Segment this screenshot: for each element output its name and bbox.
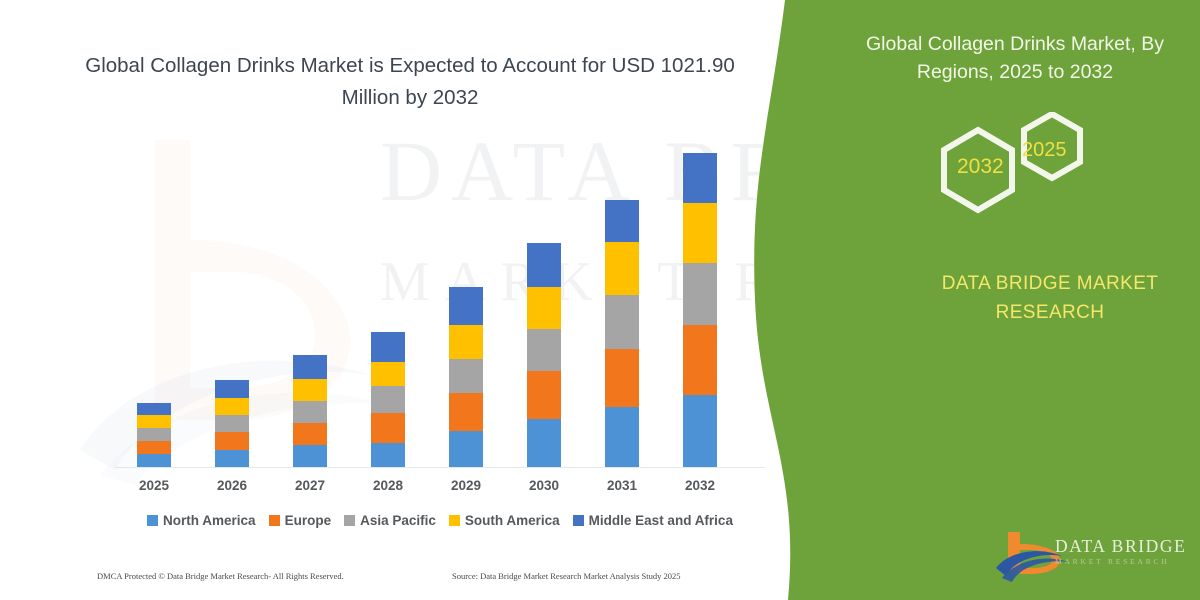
bar-segment	[371, 443, 405, 467]
bar-segment	[293, 379, 327, 401]
legend-label: Middle East and Africa	[589, 513, 733, 528]
bar-segment	[605, 349, 639, 407]
x-axis-tick-label: 2028	[349, 478, 427, 493]
bar-segment	[293, 445, 327, 467]
legend-item[interactable]: South America	[449, 513, 560, 528]
chart-bars-container	[0, 0, 800, 600]
bar-segment	[449, 393, 483, 431]
bar-segment	[215, 415, 249, 432]
hexagon-2025-label: 2025	[1022, 139, 1067, 162]
bar-segment	[605, 295, 639, 349]
bar-segment	[371, 332, 405, 362]
stacked-bar-chart: 20252026202720282029203020312032	[0, 0, 800, 600]
bar-segment	[449, 287, 483, 325]
x-axis-tick-label: 2027	[271, 478, 349, 493]
logo-wordmark: DATA BRIDGE	[1055, 536, 1186, 557]
bar-segment	[215, 380, 249, 398]
legend-swatch-icon	[573, 515, 584, 526]
bar-group	[449, 287, 483, 467]
bar-group	[527, 243, 561, 467]
bar-segment	[137, 428, 171, 441]
legend-label: Asia Pacific	[360, 513, 436, 528]
bar-group	[683, 153, 717, 467]
bar-group	[371, 332, 405, 467]
legend-swatch-icon	[269, 515, 280, 526]
legend-item[interactable]: Asia Pacific	[344, 513, 436, 528]
x-axis-tick-label: 2030	[505, 478, 583, 493]
x-axis-tick-label: 2026	[193, 478, 271, 493]
bar-group	[293, 355, 327, 467]
bar-segment	[683, 263, 717, 325]
bar-segment	[137, 441, 171, 454]
legend-swatch-icon	[449, 515, 460, 526]
bar-segment	[215, 432, 249, 450]
bar-segment	[293, 423, 327, 445]
x-axis-tick-label: 2029	[427, 478, 505, 493]
bar-segment	[371, 362, 405, 386]
bar-group	[605, 200, 639, 467]
logo-subtext: MARKET RESEARCH	[1055, 557, 1170, 566]
bar-segment	[137, 415, 171, 428]
bar-segment	[449, 359, 483, 393]
footer-source: Source: Data Bridge Market Research Mark…	[452, 571, 681, 581]
bar-segment	[371, 386, 405, 413]
bar-segment	[449, 431, 483, 467]
footer-copyright: DMCA Protected © Data Bridge Market Rese…	[97, 571, 344, 581]
bar-segment	[293, 355, 327, 379]
legend-label: Europe	[285, 513, 332, 528]
x-axis-tick-label: 2032	[661, 478, 739, 493]
bar-segment	[137, 403, 171, 415]
bar-segment	[527, 287, 561, 329]
bar-segment	[605, 407, 639, 467]
bar-segment	[527, 329, 561, 371]
bar-segment	[527, 243, 561, 287]
bar-segment	[215, 450, 249, 467]
legend-item[interactable]: Middle East and Africa	[573, 513, 733, 528]
bar-segment	[683, 325, 717, 395]
bar-segment	[215, 398, 249, 415]
infographic-root: DATA BRIDGE MARKET RESEARCH Global Colla…	[0, 0, 1200, 600]
legend-label: North America	[163, 513, 256, 528]
bar-segment	[683, 153, 717, 203]
chart-legend: North AmericaEuropeAsia PacificSouth Ame…	[110, 513, 770, 528]
panel-title: Global Collagen Drinks Market, By Region…	[845, 30, 1185, 87]
hexagon-2032-label: 2032	[957, 155, 1004, 179]
legend-item[interactable]: North America	[147, 513, 256, 528]
bar-segment	[293, 401, 327, 423]
bar-segment	[683, 203, 717, 263]
bar-group	[215, 380, 249, 467]
x-axis-tick-label: 2031	[583, 478, 661, 493]
legend-item[interactable]: Europe	[269, 513, 332, 528]
bar-segment	[683, 395, 717, 467]
bar-segment	[371, 413, 405, 443]
bar-segment	[449, 325, 483, 359]
brand-name: DATA BRIDGE MARKET RESEARCH	[905, 270, 1195, 327]
x-axis-tick-label: 2025	[115, 478, 193, 493]
bar-segment	[527, 371, 561, 419]
bar-segment	[605, 200, 639, 242]
bar-segment	[527, 419, 561, 467]
bar-segment	[605, 242, 639, 295]
bar-segment	[137, 454, 171, 467]
legend-label: South America	[465, 513, 560, 528]
legend-swatch-icon	[344, 515, 355, 526]
legend-swatch-icon	[147, 515, 158, 526]
bar-group	[137, 403, 171, 467]
